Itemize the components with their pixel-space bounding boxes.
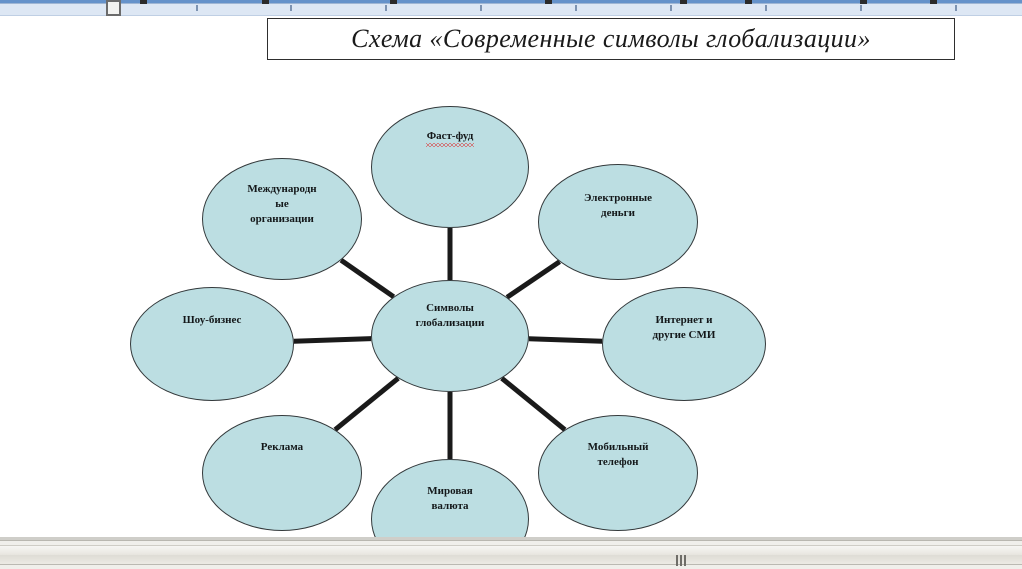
ruler-track[interactable] <box>0 3 1022 16</box>
diagram-node-advertising[interactable]: Реклама <box>202 415 362 531</box>
ruler-tick-5 <box>670 5 672 11</box>
diagram-node-center[interactable]: Символы глобализации <box>371 280 529 392</box>
node-label-advertising: Реклама <box>253 440 311 455</box>
node-label-fast-food: Фаст-фуд <box>419 129 482 146</box>
document-page[interactable]: Схема «Современные символы глобализации»… <box>0 16 1022 540</box>
connector-line-internet-and-media <box>529 339 602 342</box>
node-label-show-business: Шоу-бизнес <box>175 313 250 328</box>
first-line-indent-marker[interactable] <box>106 0 121 16</box>
ruler-tick-1 <box>290 5 292 11</box>
ruler-tab-stop-5[interactable] <box>745 0 752 4</box>
node-label-world-currency: Мировая валюта <box>419 484 480 514</box>
diagram-node-fast-food[interactable]: Фаст-фуд <box>371 106 529 228</box>
diagram-node-electronic-money[interactable]: Электронные деньги <box>538 164 698 280</box>
ruler-tab-stop-4[interactable] <box>680 0 687 4</box>
spellcheck-underline: Фаст-фуд <box>427 129 474 146</box>
connector-line-international-organizations <box>341 260 394 297</box>
connector-lines <box>0 16 1022 540</box>
node-label-international-organizations: Международн ые организации <box>239 182 324 228</box>
ruler-tab-stop-6[interactable] <box>860 0 867 4</box>
node-label-internet-and-media: Интернет и другие СМИ <box>645 313 724 343</box>
ruler-tab-stop-1[interactable] <box>262 0 269 4</box>
ruler-tick-0 <box>196 5 198 11</box>
ruler-tick-4 <box>575 5 577 11</box>
ruler-tick-8 <box>955 5 957 11</box>
node-label-center: Символы глобализации <box>408 301 493 331</box>
diagram-node-show-business[interactable]: Шоу-бизнес <box>130 287 294 401</box>
horizontal-ruler[interactable] <box>0 0 1022 16</box>
diagram-node-mobile-phone[interactable]: Мобильный телефон <box>538 415 698 531</box>
ruler-tab-stop-3[interactable] <box>545 0 552 4</box>
status-bar <box>0 540 1022 569</box>
connector-line-advertising <box>335 378 398 429</box>
node-label-electronic-money: Электронные деньги <box>576 191 660 221</box>
ruler-tab-stop-2[interactable] <box>390 0 397 4</box>
connector-line-show-business <box>294 339 371 342</box>
diagram-node-internet-and-media[interactable]: Интернет и другие СМИ <box>602 287 766 401</box>
word-document-window: Схема «Современные символы глобализации»… <box>0 0 1022 568</box>
connector-line-electronic-money <box>507 262 560 298</box>
diagram-node-international-organizations[interactable]: Международн ые организации <box>202 158 362 280</box>
node-label-mobile-phone: Мобильный телефон <box>580 440 657 470</box>
ruler-tick-6 <box>765 5 767 11</box>
ruler-tab-stop-7[interactable] <box>930 0 937 4</box>
horizontal-scrollbar-thumb[interactable] <box>0 551 1022 569</box>
ruler-tick-3 <box>480 5 482 11</box>
horizontal-scrollbar[interactable] <box>0 545 1022 565</box>
ruler-tab-stop-0[interactable] <box>140 0 147 4</box>
connector-line-mobile-phone <box>502 378 565 429</box>
ruler-tick-2 <box>385 5 387 11</box>
horizontal-scroll-grip[interactable] <box>676 554 688 566</box>
globalization-symbols-diagram: Фаст-фудЭлектронные деньгиИнтернет и дру… <box>0 16 1022 540</box>
ruler-tick-7 <box>860 5 862 11</box>
